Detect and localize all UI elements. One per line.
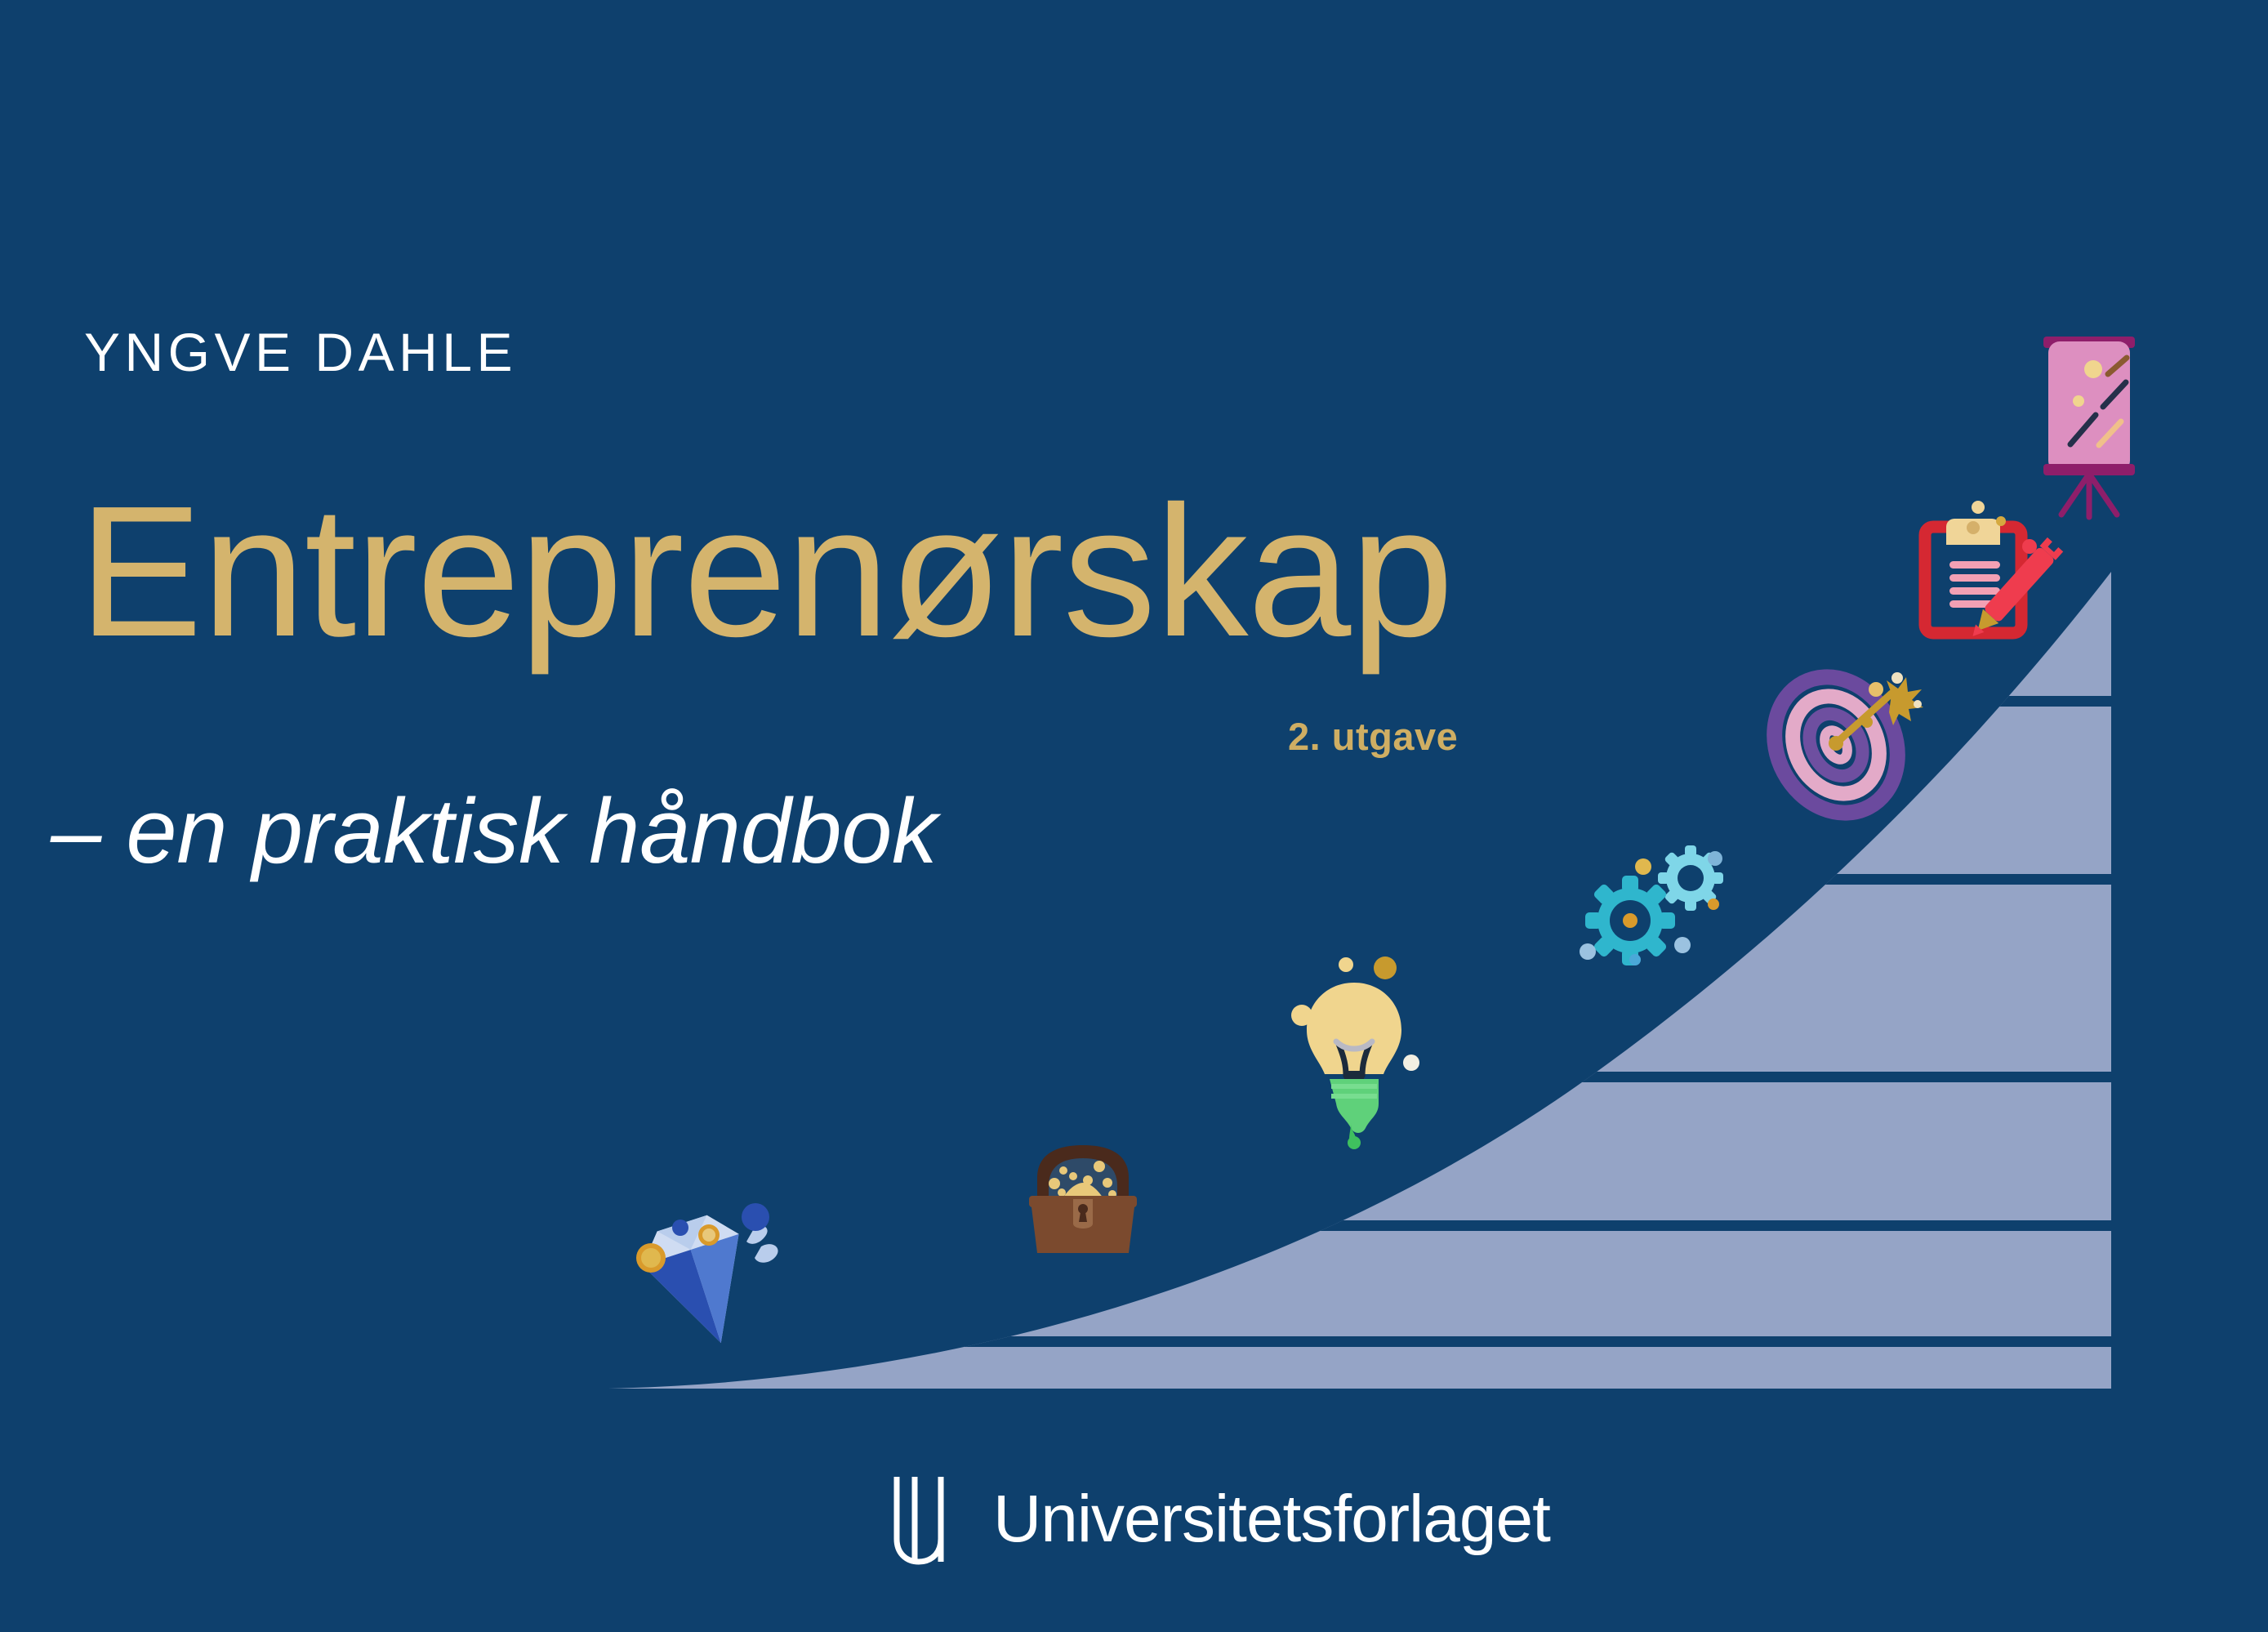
gears-icon bbox=[1580, 845, 1723, 965]
target-dart-icon bbox=[1751, 655, 1923, 834]
step-line-5 bbox=[0, 1336, 2268, 1347]
universitetsforlaget-u-mark bbox=[890, 1474, 960, 1565]
publisher-name: Universitetsforlaget bbox=[993, 1486, 1550, 1553]
step-line-4 bbox=[0, 1220, 2268, 1231]
book-title: Entreprenørskap bbox=[78, 479, 1453, 665]
growth-curve-shape bbox=[0, 572, 2268, 1389]
book-cover: YNGVE DAHLE Entreprenørskap 2. utgave – … bbox=[0, 0, 2268, 1632]
step-line-3 bbox=[0, 1072, 2268, 1082]
clipboard-pencil-icon bbox=[1925, 501, 2063, 644]
author-name: YNGVE DAHLE bbox=[84, 325, 517, 379]
lightbulb-icon bbox=[1291, 956, 1419, 1149]
book-subtitle: – en praktisk håndbok bbox=[51, 786, 937, 877]
publisher-logo: Universitetsforlaget bbox=[890, 1474, 1550, 1564]
presentation-board-icon bbox=[2043, 337, 2135, 517]
treasure-chest-icon bbox=[1029, 1145, 1137, 1253]
diamond-gem-icon bbox=[634, 1203, 778, 1358]
edition-label: 2. utgave bbox=[1288, 717, 1458, 756]
step-line-1 bbox=[0, 696, 2268, 707]
